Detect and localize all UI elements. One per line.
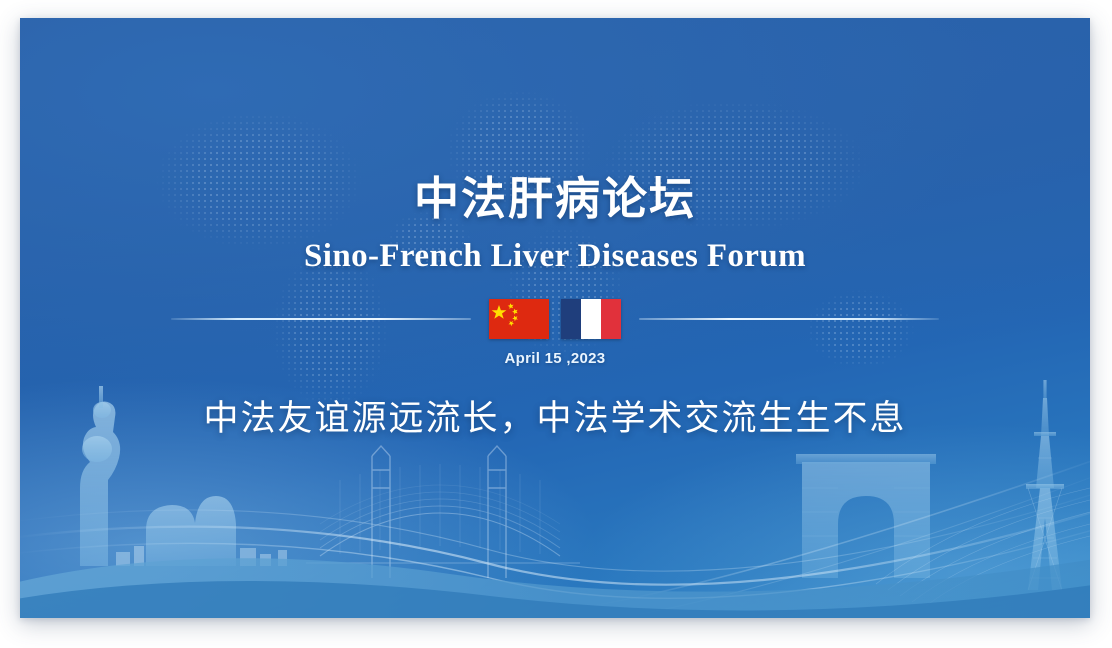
france-flag-icon xyxy=(561,299,621,339)
china-flag-icon xyxy=(489,299,549,339)
divider-line-right xyxy=(639,318,939,320)
flag-group xyxy=(489,299,621,339)
page-canvas: 中法肝病论坛 Sino-French Liver Diseases Forum xyxy=(0,0,1112,648)
title-chinese: 中法肝病论坛 xyxy=(414,176,696,221)
title-english: Sino-French Liver Diseases Forum xyxy=(304,240,806,273)
event-date: April 15 ,2023 xyxy=(505,350,606,367)
flags-divider-row xyxy=(20,299,1090,339)
divider-line-left xyxy=(171,318,471,320)
slide-content: 中法肝病论坛 Sino-French Liver Diseases Forum xyxy=(20,18,1090,618)
presentation-slide: 中法肝病论坛 Sino-French Liver Diseases Forum xyxy=(20,18,1090,618)
tagline-text: 中法友谊源远流长，中法学术交流生生不息 xyxy=(203,401,906,436)
